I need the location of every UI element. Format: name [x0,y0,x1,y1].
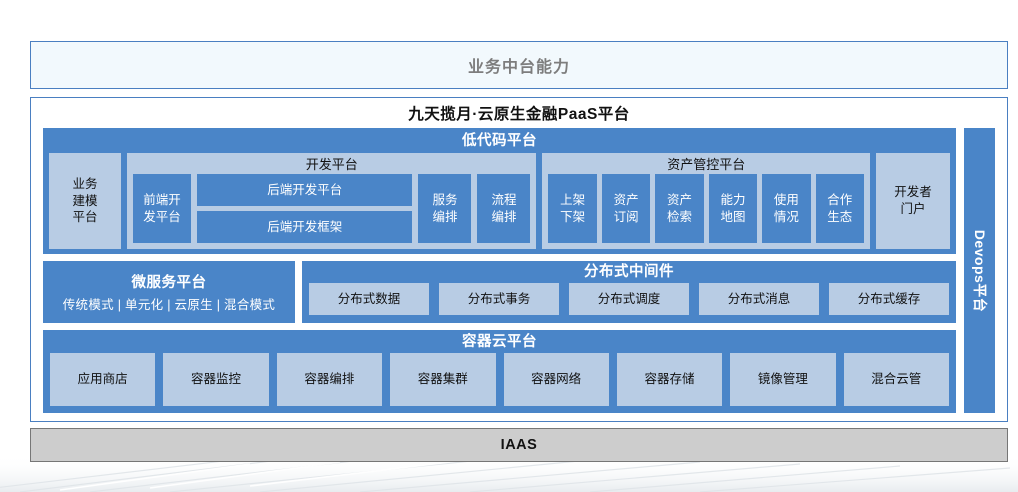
microservice-platform-section: 微服务平台 传统模式 | 单元化 | 云原生 | 混合模式 [43,261,295,323]
process-orchestration-box[interactable]: 流程 编排 [477,174,530,243]
process-orchestration-line-1: 流程 [491,192,516,209]
microservice-platform-title: 微服务平台 [132,271,207,292]
business-modeling-platform-line-1: 业务 [72,176,97,193]
business-middle-platform-capability-band: 业务中台能力 [30,41,1008,89]
distributed-middleware-title: 分布式中间件 [309,263,949,282]
lowcode-platform-row: 业务 建模 平台 开发平台 前端开 [49,153,950,249]
frontend-development-platform-line-1: 前端开 [143,192,181,209]
container-cloud-platform-section: 容器云平台 应用商店 容器监控 容器编排 容器集群 容器网络 容器存储 镜像管理… [43,330,956,413]
asset-item-ecosystem-line-2: 生态 [827,209,852,226]
container-item-storage[interactable]: 容器存储 [617,353,722,406]
development-platform-group: 开发平台 前端开 发平台 后端开发平台 [127,153,536,249]
business-modeling-platform-box[interactable]: 业务 建模 平台 [49,153,121,249]
paas-platform-container: 九天揽月·云原生金融PaaS平台 低代码平台 业务 建模 平台 [30,97,1008,422]
service-orchestration-line-1: 服务 [432,192,457,209]
middleware-item-messaging[interactable]: 分布式消息 [699,283,819,315]
paas-platform-title: 九天揽月·云原生金融PaaS平台 [31,98,1007,128]
asset-item-search[interactable]: 资产 检索 [655,174,703,243]
developer-portal-line-2: 门户 [894,201,932,218]
frontend-development-platform-line-2: 发平台 [143,209,181,226]
devops-platform-bar[interactable]: Devops平台 [964,128,995,413]
service-orchestration-line-2: 编排 [432,209,457,226]
asset-management-platform-group: 资产管控平台 上架 下架 资产 [542,153,870,249]
devops-platform-label: Devops平台 [970,229,990,312]
container-item-cluster[interactable]: 容器集群 [390,353,495,406]
paas-body: 低代码平台 业务 建模 平台 开发平台 [31,128,1007,421]
asset-item-usage-line-1: 使用 [774,192,799,209]
container-item-network[interactable]: 容器网络 [504,353,609,406]
asset-item-subscription-line-1: 资产 [614,192,639,209]
development-platform-title: 开发平台 [133,155,530,174]
distributed-middleware-section: 分布式中间件 分布式数据 分布式事务 分布式调度 分布式消息 分布式缓存 [302,261,956,323]
lowcode-platform-section: 低代码平台 业务 建模 平台 开发平台 [43,128,956,254]
asset-item-usage-line-2: 情况 [774,209,799,226]
backend-development-framework-box[interactable]: 后端开发框架 [197,211,412,243]
asset-item-capability-map-line-1: 能力 [720,192,745,209]
asset-item-subscription-line-2: 订阅 [614,209,639,226]
asset-item-usage[interactable]: 使用 情况 [762,174,810,243]
business-modeling-platform-line-3: 平台 [72,209,97,226]
backend-development-platform-box[interactable]: 后端开发平台 [197,174,412,206]
asset-item-capability-map[interactable]: 能力 地图 [709,174,757,243]
orchestration-boxes: 服务 编排 流程 编排 [418,174,530,243]
architecture-diagram: 业务中台能力 九天揽月·云原生金融PaaS平台 低代码平台 业务 建模 平台 [0,0,1018,492]
iaas-layer-band: IAAS [30,428,1008,462]
asset-item-ecosystem[interactable]: 合作 生态 [816,174,864,243]
middleware-item-cache[interactable]: 分布式缓存 [829,283,949,315]
asset-item-capability-map-line-2: 地图 [720,209,745,226]
middle-row: 微服务平台 传统模式 | 单元化 | 云原生 | 混合模式 分布式中间件 分布式… [43,261,956,323]
business-modeling-platform-line-2: 建模 [72,193,97,210]
microservice-platform-subtitle: 传统模式 | 单元化 | 云原生 | 混合模式 [63,294,275,313]
iaas-title: IAAS [501,437,538,453]
service-orchestration-box[interactable]: 服务 编排 [418,174,471,243]
asset-management-platform-title: 资产管控平台 [548,155,864,174]
lowcode-platform-title: 低代码平台 [49,131,950,151]
asset-management-items: 上架 下架 资产 订阅 [548,174,864,243]
middleware-item-transaction[interactable]: 分布式事务 [439,283,559,315]
development-platform-inner: 前端开 发平台 后端开发平台 后端开发框架 [133,174,530,243]
developer-portal-box[interactable]: 开发者 门户 [876,153,950,249]
backend-development-stack: 后端开发平台 后端开发框架 [197,174,412,243]
asset-item-listing-line-2: 下架 [560,209,585,226]
asset-item-ecosystem-line-1: 合作 [827,192,852,209]
asset-item-listing[interactable]: 上架 下架 [548,174,596,243]
container-item-monitoring[interactable]: 容器监控 [163,353,268,406]
asset-item-listing-line-1: 上架 [560,192,585,209]
process-orchestration-line-2: 编排 [491,209,516,226]
asset-item-search-line-1: 资产 [667,192,692,209]
container-cloud-items: 应用商店 容器监控 容器编排 容器集群 容器网络 容器存储 镜像管理 混合云管 [50,353,949,406]
container-item-hybrid-cloud[interactable]: 混合云管 [844,353,949,406]
container-cloud-platform-title: 容器云平台 [50,332,949,353]
frontend-development-platform-box[interactable]: 前端开 发平台 [133,174,191,243]
platform-stack-column: 低代码平台 业务 建模 平台 开发平台 [43,128,956,413]
top-band-title: 业务中台能力 [468,53,570,77]
middleware-item-scheduling[interactable]: 分布式调度 [569,283,689,315]
developer-portal-line-1: 开发者 [894,184,932,201]
asset-item-subscription[interactable]: 资产 订阅 [602,174,650,243]
distributed-middleware-items: 分布式数据 分布式事务 分布式调度 分布式消息 分布式缓存 [309,283,949,315]
container-item-orchestration[interactable]: 容器编排 [277,353,382,406]
middleware-item-data[interactable]: 分布式数据 [309,283,429,315]
container-item-app-store[interactable]: 应用商店 [50,353,155,406]
asset-item-search-line-2: 检索 [667,209,692,226]
container-item-image-management[interactable]: 镜像管理 [730,353,835,406]
